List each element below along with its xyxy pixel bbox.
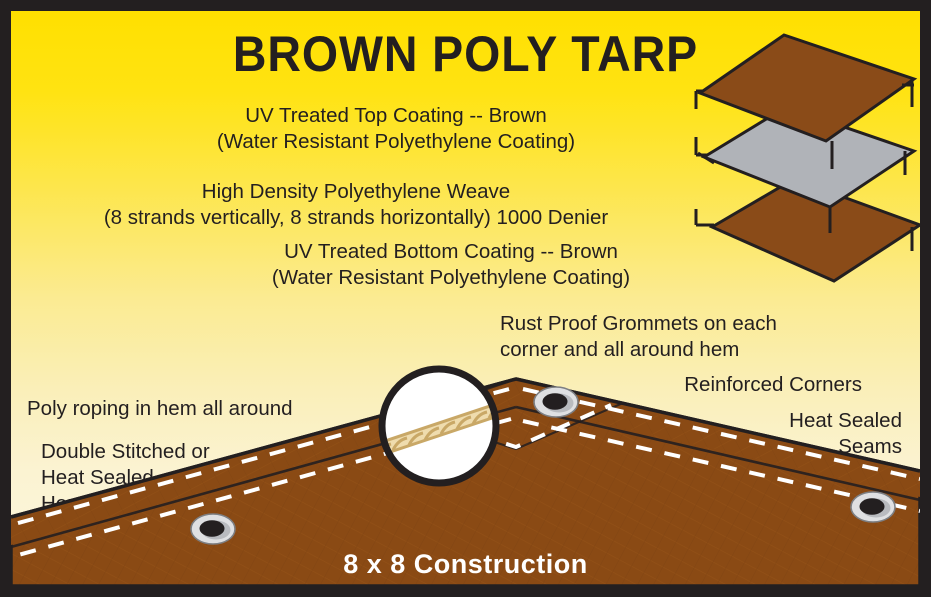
callout-top-coating-line2: (Water Resistant Polyethylene Coating)	[111, 129, 681, 155]
callout-bottom-coating: UV Treated Bottom Coating -- Brown (Wate…	[151, 239, 751, 291]
callout-weave-line2: (8 strands vertically, 8 strands horizon…	[11, 205, 701, 231]
poster-canvas: BROWN POLY TARP	[11, 11, 920, 586]
callout-top-coating-line1: UV Treated Top Coating -- Brown	[111, 103, 681, 129]
callout-bottom-coating-line1: UV Treated Bottom Coating -- Brown	[151, 239, 751, 265]
callout-weave-line1: High Density Polyethylene Weave	[11, 179, 701, 205]
callout-weave: High Density Polyethylene Weave (8 stran…	[11, 179, 701, 231]
poster-root: BROWN POLY TARP	[0, 0, 931, 597]
grommet-apex	[534, 387, 578, 417]
callout-top-coating: UV Treated Top Coating -- Brown (Water R…	[111, 103, 681, 155]
grommet-left	[191, 514, 235, 544]
construction-caption: 8 x 8 Construction	[11, 549, 920, 580]
top-coating-layer	[700, 35, 914, 141]
magnifier-rope-detail	[363, 350, 515, 502]
grommet-right	[851, 492, 895, 522]
callout-bottom-coating-line2: (Water Resistant Polyethylene Coating)	[151, 265, 751, 291]
